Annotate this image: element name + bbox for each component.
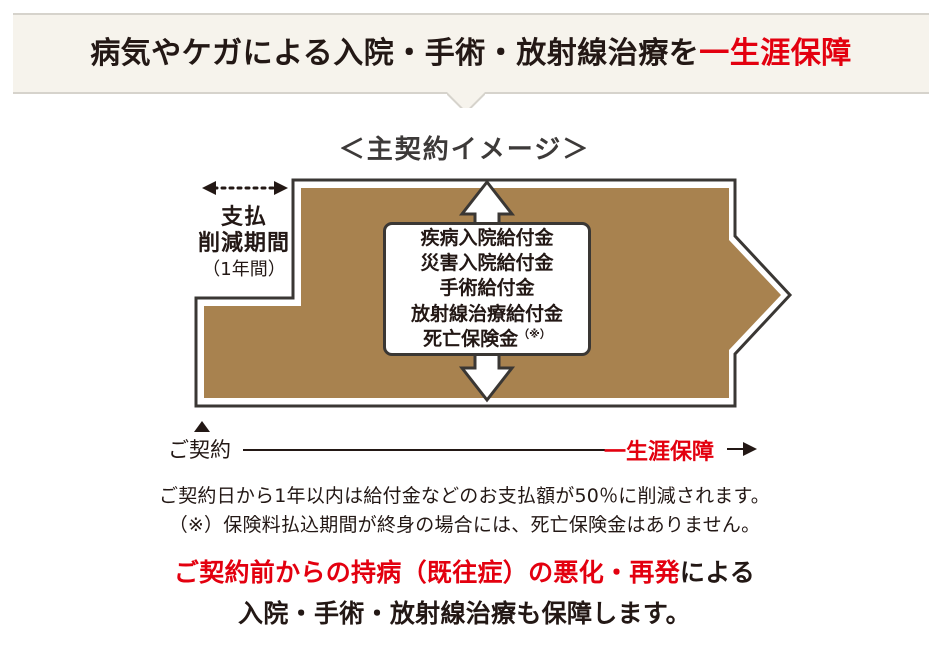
note-line: ご契約日から1年以内は給付金などのお支払額が50％に削減されます。 [0,482,929,511]
benefit-item-death-text: 死亡保険金 [423,328,518,350]
footer-line-2: 入院・手術・放射線治療も保障します。 [0,594,929,635]
benefit-item-death: 死亡保険金（※） [423,327,551,352]
footnote-mark: （※） [518,328,551,341]
header-banner: 病気やケガによる入院・手術・放射線治療を一生涯保障 [13,13,929,94]
period-label-line1: 支払 [196,205,292,231]
triangle-up-marker-icon [194,421,210,432]
payment-reduction-period-label: 支払 削減期間 （1年間） [196,205,292,280]
footer-line-1-accent: ご契約前からの持病（既往症）の悪化・再発 [174,558,680,587]
timeline-end-label: 一生涯保障 [604,434,714,466]
benefit-item: 疾病入院給付金 [420,226,553,251]
timeline-axis-line [243,449,605,451]
notes-block: ご契約日から1年以内は給付金などのお支払額が50％に削減されます。 （※）保険料… [0,482,929,541]
arrow-right-icon [727,441,757,457]
chevron-down-icon [447,92,485,108]
page-title-accent: 一生涯保障 [699,36,852,71]
page-title-plain: 病気やケガによる入院・手術・放射線治療を [90,36,699,71]
footer-message: ご契約前からの持病（既往症）の悪化・再発による 入院・手術・放射線治療も保障しま… [0,553,929,634]
footer-line-1: ご契約前からの持病（既往症）の悪化・再発による [0,553,929,594]
period-label-line3: （1年間） [196,259,292,280]
benefit-item: 手術給付金 [439,276,534,301]
footer-line-1-plain: による [680,558,755,587]
note-line: （※）保険料払込期間が終身の場合には、死亡保険金はありません。 [0,511,929,540]
dotted-double-arrow-icon [202,181,288,195]
page-title: 病気やケガによる入院・手術・放射線治療を一生涯保障 [90,39,852,69]
timeline-start-label: ご契約 [168,434,231,464]
benefit-item: 災害入院給付金 [420,251,553,276]
diagram-title: ＜主契約イメージ＞ [0,129,929,166]
benefit-list-box: 疾病入院給付金 災害入院給付金 手術給付金 放射線治療給付金 死亡保険金（※） [383,222,591,356]
period-label-line2: 削減期間 [196,231,292,257]
benefit-item: 放射線治療給付金 [411,302,563,327]
